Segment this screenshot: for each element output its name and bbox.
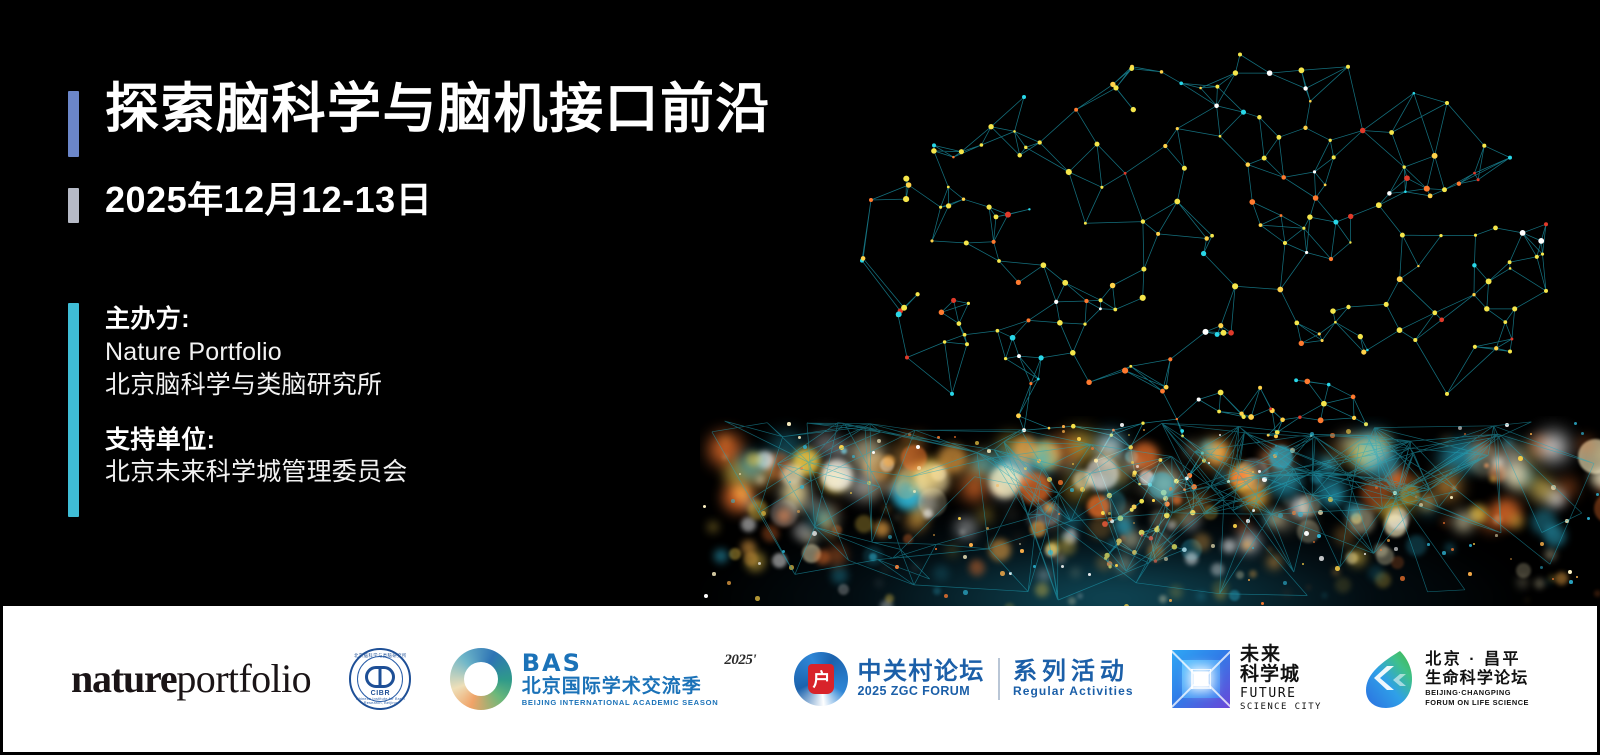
sponsor-logo-bar: natureportfolio 北京脑科学与类脑研究所 CIBR Chinese…: [3, 606, 1597, 752]
organizer-block: 主办方: Nature Portfolio 北京脑科学与类脑研究所 支持单位: …: [68, 303, 407, 517]
support-label: 支持单位:: [105, 424, 407, 457]
zgc-shield-icon: 户: [808, 664, 834, 694]
fsc-english-line-2: SCIENCE CITY: [1240, 702, 1322, 713]
page-title: 探索脑科学与脑机接口前沿: [105, 82, 771, 136]
zgc-series-chinese: 系列活动: [1013, 659, 1134, 684]
zgc-divider: [998, 658, 1000, 700]
zgc-english-name: 2025 ZGC FORUM: [857, 684, 985, 699]
nature-portfolio-bold-word: nature: [71, 656, 176, 701]
nature-portfolio-logo: natureportfolio: [71, 655, 311, 702]
bas-year: 2025': [724, 652, 756, 669]
organizer-accent-bar: [68, 303, 79, 517]
fsc-english-line-1: FUTURE: [1240, 686, 1322, 702]
fsc-chinese-line-1: 未来: [1240, 645, 1322, 665]
zgc-forum-logo: 户 中关村论坛 2025 ZGC FORUM 系列活动 Regular Acti…: [794, 652, 1133, 706]
logo-row: natureportfolio 北京脑科学与类脑研究所 CIBR Chinese…: [3, 645, 1597, 713]
changping-english-line-1: BEIJING·CHANGPING: [1425, 688, 1529, 698]
cibr-seal-bottom-text: Chinese Institute for Brain Research, Be…: [351, 697, 409, 705]
bas-acronym: BAS: [522, 651, 719, 675]
organizer-text: 主办方: Nature Portfolio 北京脑科学与类脑研究所 支持单位: …: [105, 303, 407, 517]
cibr-acronym: CIBR: [351, 690, 409, 697]
organizer-spacer: [105, 402, 407, 424]
bas-english-name: BEIJING INTERNATIONAL ACADEMIC SEASON: [522, 698, 719, 707]
host-line-2: 北京脑科学与类脑研究所: [105, 369, 407, 402]
changping-leaf-icon: [1360, 648, 1416, 710]
bas-chinese-name: 北京国际学术交流季: [522, 675, 719, 699]
host-label: 主办方:: [105, 303, 407, 336]
fsc-chinese-line-2: 科学城: [1240, 665, 1322, 686]
poster-copy: 探索脑科学与脑机接口前沿 2025年12月12-13日 主办方: Nature …: [0, 0, 880, 606]
event-poster: 探索脑科学与脑机接口前沿 2025年12月12-13日 主办方: Nature …: [0, 0, 1600, 755]
date-accent-bar: [68, 188, 79, 223]
changping-chinese-line-2: 生命科学论坛: [1425, 669, 1529, 688]
future-science-city-logo: 未来 科学城 FUTURE SCIENCE CITY: [1172, 645, 1322, 713]
zgc-chinese-name: 中关村论坛: [857, 659, 985, 684]
title-accent-bar: [68, 91, 79, 157]
beijing-changping-life-science-forum-logo: 北京 · 昌平 生命科学论坛 BEIJING·CHANGPING FORUM O…: [1360, 648, 1529, 710]
cibr-monogram-icon: [365, 666, 395, 688]
title-row: 探索脑科学与脑机接口前沿: [68, 82, 771, 157]
zgc-series-english: Regular Activities: [1013, 684, 1134, 698]
bas-logo: BAS 北京国际学术交流季 BEIJING INTERNATIONAL ACAD…: [450, 648, 756, 710]
bas-ring-icon: [450, 648, 512, 710]
hero-section: 探索脑科学与脑机接口前沿 2025年12月12-13日 主办方: Nature …: [0, 0, 1600, 606]
cibr-logo: 北京脑科学与类脑研究所 CIBR Chinese Institute for B…: [349, 648, 411, 710]
cibr-seal-icon: 北京脑科学与类脑研究所 CIBR Chinese Institute for B…: [349, 648, 411, 710]
host-line-1: Nature Portfolio: [105, 336, 407, 369]
cibr-seal-top-text: 北京脑科学与类脑研究所: [351, 653, 409, 659]
changping-english-line-2: FORUM ON LIFE SCIENCE: [1425, 698, 1529, 708]
event-date: 2025年12月12-13日: [105, 182, 432, 218]
future-science-city-square-icon: [1172, 650, 1230, 708]
changping-chinese-line-1: 北京 · 昌平: [1425, 650, 1529, 669]
date-row: 2025年12月12-13日: [68, 182, 432, 223]
support-line-1: 北京未来科学城管理委员会: [105, 456, 407, 489]
nature-portfolio-light-word: portfolio: [176, 656, 311, 701]
zgc-emblem-icon: 户: [794, 652, 848, 706]
